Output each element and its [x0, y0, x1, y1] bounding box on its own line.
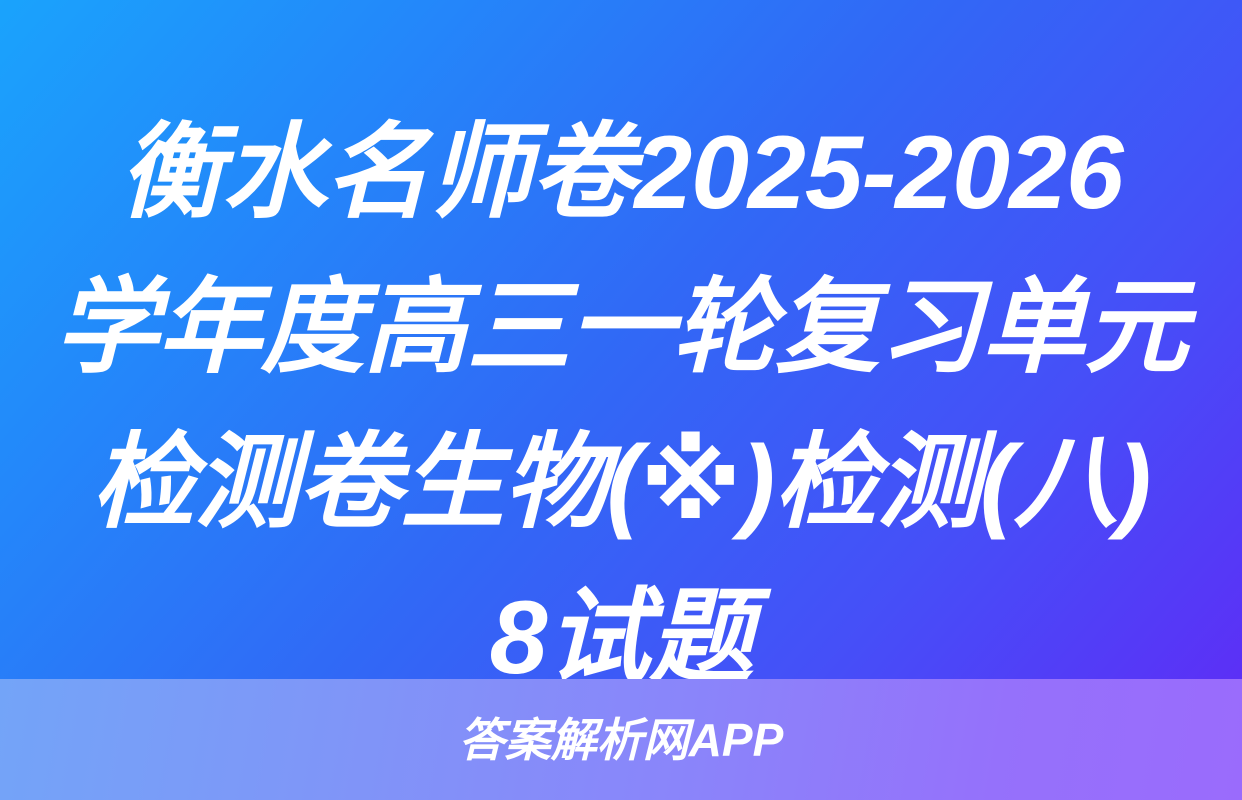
title-line-2: 学年度高三一轮复习单元: [22, 251, 1220, 406]
page-title: 衡水名师卷2025-2026 学年度高三一轮复习单元 检测卷生物(※)检测(八)…: [0, 96, 1242, 716]
app-brand-label: 答案解析网APP: [459, 717, 784, 763]
title-line-3: 检测卷生物(※)检测(八): [22, 406, 1220, 561]
footer-band: 答案解析网APP: [0, 679, 1242, 800]
promo-card: 衡水名师卷2025-2026 学年度高三一轮复习单元 检测卷生物(※)检测(八)…: [0, 0, 1242, 800]
title-line-1: 衡水名师卷2025-2026: [22, 96, 1220, 251]
